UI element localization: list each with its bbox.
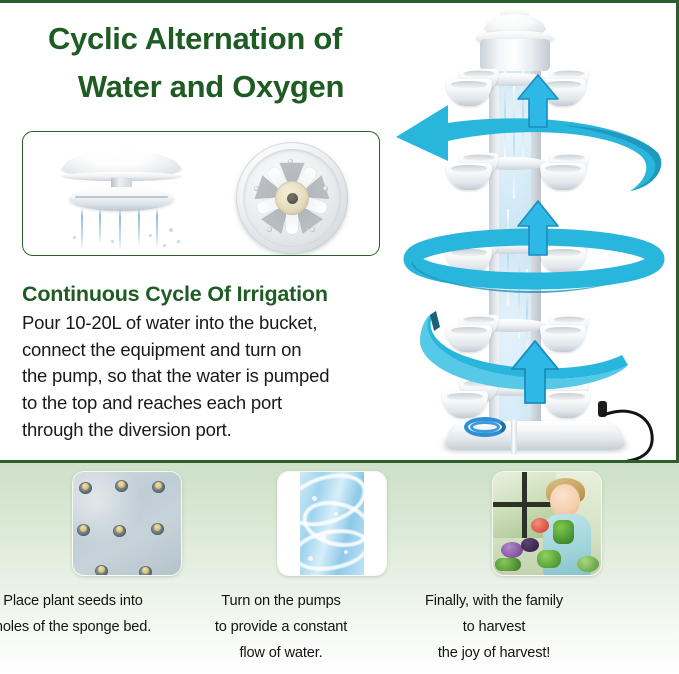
diversion-port-illustration [236, 142, 348, 254]
green-pepper [553, 520, 574, 544]
diversion-port-disc-photo [218, 132, 368, 255]
port-bolt [267, 227, 272, 232]
title-block: Cyclic Alternation of Water and Oxygen [14, 15, 394, 111]
body-line: connect the equipment and turn on [22, 337, 382, 364]
top-panel: Cyclic Alternation of Water and Oxygen [0, 0, 679, 463]
grapes [521, 538, 539, 552]
harvest-scene [493, 472, 601, 575]
cucumber [495, 558, 521, 571]
port-bolt [310, 227, 315, 232]
water-direction-arrow-up [516, 199, 560, 257]
water-droplet [163, 244, 166, 247]
seed [139, 566, 152, 576]
title-line-2: Water and Oxygen [14, 63, 394, 111]
body-line: Pour 10-20L of water into the bucket, [22, 310, 382, 337]
caption-line: to harvest [384, 615, 604, 641]
bubble [312, 496, 317, 501]
water-jet [156, 208, 158, 249]
coiled-hose-inner [470, 421, 500, 433]
sprinkler-illustration [59, 144, 184, 252]
water-jet [138, 208, 140, 246]
water-direction-arrow-up [516, 73, 560, 129]
bubble [334, 512, 338, 516]
section-body-copy: Pour 10-20L of water into the bucket, co… [22, 310, 382, 443]
tomato [531, 518, 549, 533]
body-line: the pump, so that the water is pumped [22, 363, 382, 390]
port-bolt [288, 159, 293, 164]
bubble [344, 550, 348, 554]
sprinkler-disc-seam [75, 196, 168, 198]
flowing-water-thumbnail [277, 471, 387, 576]
section-subheading: Continuous Cycle Of Irrigation [22, 282, 328, 307]
caption-line: holes of the sponge bed. [0, 615, 183, 641]
bubble [308, 556, 313, 561]
child-face [550, 484, 580, 517]
body-line: to the top and reaches each port [22, 390, 382, 417]
green-pepper [537, 550, 561, 568]
hydroponic-tower-water-flow-diagram [398, 9, 676, 461]
step-thumbnails [0, 471, 679, 581]
infographic-page: Cyclic Alternation of Water and Oxygen [0, 0, 679, 674]
sponge-surface [73, 472, 181, 575]
sponge-bed-with-seeds-thumbnail [72, 471, 182, 576]
title-line-1: Cyclic Alternation of [14, 15, 394, 63]
seed [113, 525, 126, 537]
steps-section: Place plant seeds into holes of the spon… [0, 463, 679, 674]
family-harvest-thumbnail [492, 471, 602, 576]
seed [152, 481, 165, 493]
caption-line: Finally, with the family [384, 589, 604, 615]
step-caption-1: Place plant seeds into holes of the spon… [0, 589, 183, 641]
caption-line: to provide a constant [171, 615, 391, 641]
splash-core [300, 472, 364, 575]
water-jet [119, 208, 121, 252]
water-droplet [177, 240, 180, 243]
seed [115, 480, 128, 492]
port-bolt [254, 186, 259, 191]
eggplant [501, 542, 523, 558]
bubble [320, 534, 326, 540]
seed [151, 523, 164, 535]
sprinkler-diffuser-head-photo [31, 132, 206, 255]
body-line: through the diversion port. [22, 417, 382, 444]
port-center-hole [287, 193, 298, 204]
water-level-tube [511, 419, 517, 455]
caption-line: the joy of harvest! [384, 641, 604, 667]
product-photo-box [22, 131, 380, 256]
caption-line: Turn on the pumps [171, 589, 391, 615]
seed [79, 482, 92, 494]
caption-line: flow of water. [171, 641, 391, 667]
port-bolt [323, 186, 328, 191]
water-jet [81, 208, 83, 250]
power-cord [594, 401, 668, 463]
step-caption-2: Turn on the pumps to provide a constant … [171, 589, 391, 667]
lettuce [577, 556, 599, 572]
water-droplet [73, 236, 76, 239]
window-mullion [522, 472, 527, 538]
water-jet [99, 208, 101, 244]
seed [77, 524, 90, 536]
sprinkler-disc [69, 187, 174, 211]
water-droplet [111, 240, 114, 243]
water-droplet [149, 234, 152, 237]
seed [95, 565, 108, 576]
water-droplet [169, 228, 173, 232]
water-direction-arrow-up [510, 339, 560, 405]
splash-background [278, 472, 386, 575]
caption-line: Place plant seeds into [0, 589, 183, 615]
step-caption-3: Finally, with the family to harvest the … [384, 589, 604, 667]
